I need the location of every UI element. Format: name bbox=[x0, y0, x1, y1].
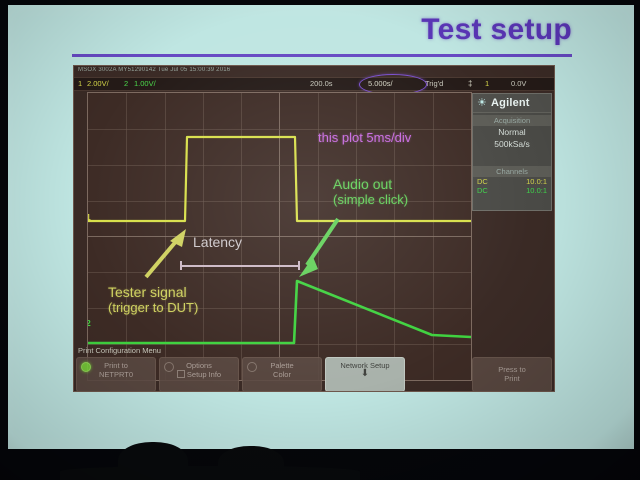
softkey-options-line2: Setup Info bbox=[160, 370, 238, 379]
audience-head-silhouette bbox=[118, 442, 188, 480]
status-memory-depth: 200.0s bbox=[310, 79, 333, 88]
annotation-audio-out-sub: (simple click) bbox=[333, 193, 408, 208]
softkey-press-to-print[interactable]: Press to Print bbox=[472, 357, 552, 392]
page-title: Test setup bbox=[421, 13, 572, 47]
annotation-tester-signal: Tester signal (trigger to DUT) bbox=[108, 285, 198, 315]
softkey-print-to-line2: NETPRT0 bbox=[77, 370, 155, 379]
ch1-coupling-value: DC bbox=[477, 177, 488, 186]
slide-surface: Test setup MSOX 3002A MY51290142 Tue Jul… bbox=[8, 5, 634, 449]
status-ch1-number[interactable]: 1 bbox=[78, 79, 82, 88]
knob-icon bbox=[247, 362, 257, 372]
annotation-tester-signal-title: Tester signal bbox=[108, 285, 198, 301]
status-ch2-number[interactable]: 2 bbox=[124, 79, 128, 88]
knob-icon bbox=[81, 362, 91, 372]
chevron-down-icon: ⬇ bbox=[326, 370, 404, 378]
status-trigger-state: Trig'd bbox=[425, 79, 443, 88]
checkbox-icon[interactable] bbox=[177, 370, 185, 378]
channels-section-header: Channels bbox=[473, 166, 551, 177]
sun-icon: ☀ bbox=[477, 98, 488, 109]
status-trigger-level[interactable]: 0.0V bbox=[511, 79, 526, 88]
annotation-audio-out: Audio out (simple click) bbox=[333, 177, 408, 207]
channel-2-row: DC 10.0:1 bbox=[473, 186, 551, 195]
softkey-options[interactable]: Options Setup Info bbox=[159, 357, 239, 392]
latency-bar-line bbox=[180, 265, 300, 267]
oscilloscope-screenshot: MSOX 3002A MY51290142 Tue Jul 05 15:00:3… bbox=[73, 65, 555, 392]
scope-status-bar: 1 2.00V/ 2 1.00V/ 200.0s 5.000s/ Trig'd … bbox=[74, 77, 554, 91]
trigger-edge-icon: ‡ bbox=[468, 79, 472, 88]
projected-slide-photo: Test setup MSOX 3002A MY51290142 Tue Jul… bbox=[0, 0, 640, 480]
ch1-probe-ratio: 10.0:1 bbox=[526, 177, 547, 186]
sample-rate-value: 500kSa/s bbox=[473, 138, 551, 150]
ch2-coupling-value: DC bbox=[477, 186, 488, 195]
softkey-options-line2-label: Setup Info bbox=[187, 370, 221, 379]
agilent-brand-header: ☀ Agilent bbox=[473, 94, 551, 113]
agilent-brand-label: Agilent bbox=[491, 97, 530, 109]
softkey-gap bbox=[408, 357, 469, 387]
acquisition-section-header: Acquisition bbox=[473, 115, 551, 126]
annotation-latency-label: Latency bbox=[193, 235, 242, 251]
agilent-sidebar: ☀ Agilent Acquisition Normal 500kSa/s Ch… bbox=[472, 93, 552, 211]
latency-measurement-bar bbox=[180, 261, 300, 270]
annotation-plot-timebase: this plot 5ms/div bbox=[318, 131, 411, 146]
tester-signal-callout-arrow bbox=[136, 225, 192, 285]
softkey-palette-line2: Color bbox=[243, 370, 321, 379]
scope-info-line: MSOX 3002A MY51290142 Tue Jul 05 15:00:3… bbox=[78, 67, 230, 73]
menu-title: Print Configuration Menu bbox=[78, 346, 161, 355]
acquisition-mode-value: Normal bbox=[473, 126, 551, 138]
softkey-network-setup[interactable]: Network Setup ⬇ bbox=[325, 357, 405, 392]
waveform-graticule: 1 2 this plot 5ms/div Audio out (simple … bbox=[87, 92, 472, 381]
audience-head-silhouette bbox=[218, 446, 284, 480]
softkey-press-to-print-line2: Print bbox=[473, 374, 551, 383]
audio-out-callout-arrow bbox=[294, 213, 346, 283]
annotation-tester-signal-sub: (trigger to DUT) bbox=[108, 301, 198, 316]
knob-icon bbox=[164, 362, 174, 372]
channel-1-row: DC 10.0:1 bbox=[473, 177, 551, 186]
status-ch1-scale[interactable]: 2.00V/ bbox=[87, 79, 109, 88]
annotation-audio-out-title: Audio out bbox=[333, 177, 408, 193]
status-trigger-source[interactable]: 1 bbox=[485, 79, 489, 88]
softkey-palette[interactable]: Palette Color bbox=[242, 357, 322, 392]
ch2-probe-ratio: 10.0:1 bbox=[526, 186, 547, 195]
softkey-bar: Print to NETPRT0 Options Setup Info Pale… bbox=[76, 357, 552, 387]
softkey-print-to[interactable]: Print to NETPRT0 bbox=[76, 357, 156, 392]
trace-ch1-tester-signal bbox=[88, 137, 471, 221]
softkey-press-to-print-line1: Press to bbox=[473, 365, 551, 374]
title-underline bbox=[72, 54, 572, 57]
status-ch2-scale[interactable]: 1.00V/ bbox=[134, 79, 156, 88]
audience-silhouette bbox=[60, 466, 360, 480]
